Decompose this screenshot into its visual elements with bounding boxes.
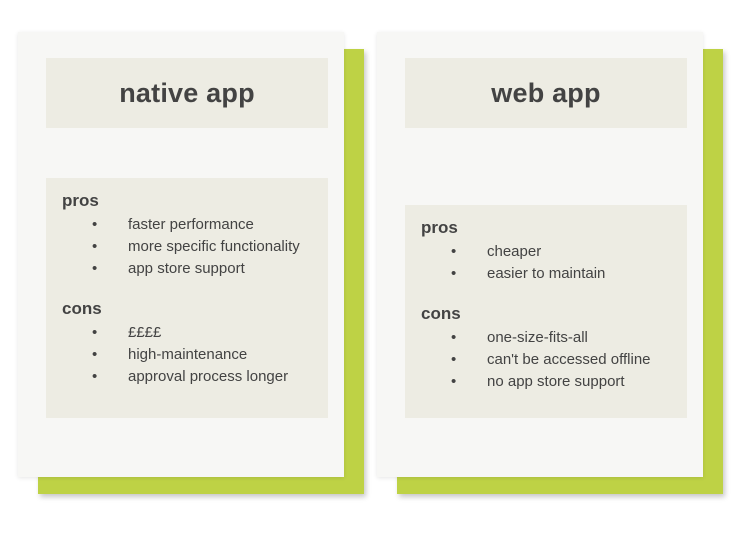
list-pros-native-app: • faster performance • more specific fun… xyxy=(46,214,328,280)
bullet-icon: • xyxy=(92,366,97,388)
list-item-label: app store support xyxy=(128,260,245,277)
list-item-label: high-maintenance xyxy=(128,346,247,363)
list-item-label: ££££ xyxy=(128,324,161,341)
card-title-band-web-app: web app xyxy=(405,58,687,128)
list-item: • high-maintenance xyxy=(46,344,328,366)
bullet-icon: • xyxy=(92,322,97,344)
list-item: • app store support xyxy=(46,258,328,280)
section-heading-cons-web-app: cons xyxy=(421,303,687,326)
bullet-icon: • xyxy=(451,327,456,349)
list-cons-web-app: • one-size-fits-all • can't be accessed … xyxy=(405,327,687,393)
list-item: • approval process longer xyxy=(46,366,328,388)
card-web-app[interactable]: web app pros • cheaper • easier to maint… xyxy=(377,32,703,477)
list-item-label: easier to maintain xyxy=(487,265,605,282)
list-item: • no app store support xyxy=(405,371,687,393)
list-cons-native-app: • ££££ • high-maintenance • approval pro… xyxy=(46,322,328,388)
card-surface-web-app: web app pros • cheaper • easier to maint… xyxy=(377,32,703,477)
card-content-native-app: pros • faster performance • more specifi… xyxy=(46,178,328,418)
bullet-icon: • xyxy=(92,344,97,366)
bullet-icon: • xyxy=(451,241,456,263)
list-item-label: cheaper xyxy=(487,243,541,260)
list-item: • cheaper xyxy=(405,241,687,263)
section-heading-cons-native-app: cons xyxy=(62,298,328,321)
list-pros-web-app: • cheaper • easier to maintain xyxy=(405,241,687,285)
bullet-icon: • xyxy=(451,349,456,371)
section-heading-pros-web-app: pros xyxy=(421,217,687,240)
section-heading-pros-native-app: pros xyxy=(62,190,328,213)
list-item-label: more specific functionality xyxy=(128,238,300,255)
list-item: • ££££ xyxy=(46,322,328,344)
bullet-icon: • xyxy=(92,214,97,236)
bullet-icon: • xyxy=(451,371,456,393)
slide-canvas: native app pros • faster performance • m… xyxy=(0,0,738,551)
card-title-band-native-app: native app xyxy=(46,58,328,128)
list-item-label: one-size-fits-all xyxy=(487,329,588,346)
section-spacer xyxy=(46,280,328,298)
list-item-label: approval process longer xyxy=(128,368,288,385)
bullet-icon: • xyxy=(451,263,456,285)
list-item-label: faster performance xyxy=(128,216,254,233)
bullet-icon: • xyxy=(92,258,97,280)
section-spacer xyxy=(405,285,687,303)
list-item: • can't be accessed offline xyxy=(405,349,687,371)
list-item: • faster performance xyxy=(46,214,328,236)
card-title-native-app: native app xyxy=(119,80,255,107)
card-surface-native-app: native app pros • faster performance • m… xyxy=(18,32,344,477)
list-item: • easier to maintain xyxy=(405,263,687,285)
list-item: • one-size-fits-all xyxy=(405,327,687,349)
list-item-label: no app store support xyxy=(487,373,625,390)
card-title-web-app: web app xyxy=(491,80,600,107)
card-content-web-app: pros • cheaper • easier to maintain cons xyxy=(405,205,687,418)
bullet-icon: • xyxy=(92,236,97,258)
list-item-label: can't be accessed offline xyxy=(487,351,651,368)
card-native-app[interactable]: native app pros • faster performance • m… xyxy=(18,32,344,477)
list-item: • more specific functionality xyxy=(46,236,328,258)
